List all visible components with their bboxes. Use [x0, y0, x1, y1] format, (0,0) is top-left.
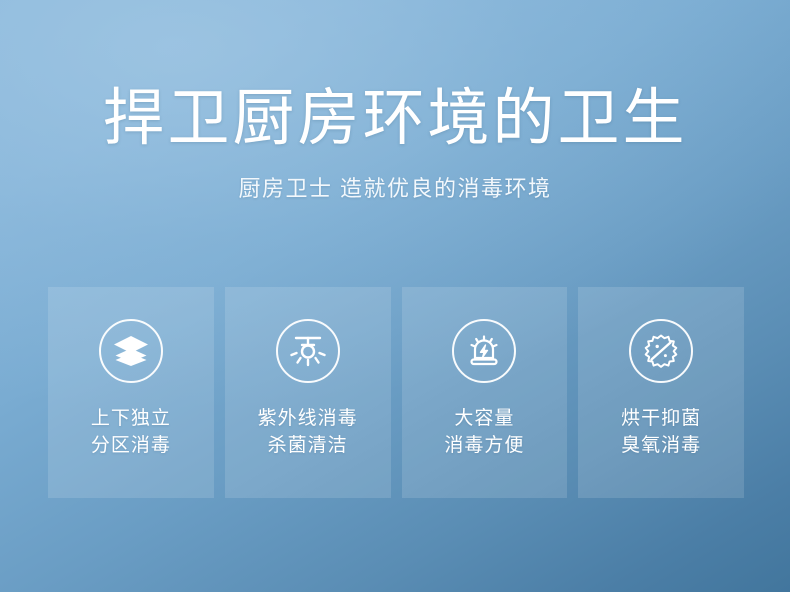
feature-card-1-label: 上下独立 分区消毒 [91, 405, 171, 459]
feature-card-4-line1: 烘干抑菌 [621, 405, 701, 432]
page-title: 捍卫厨房环境的卫生 [0, 0, 790, 150]
feature-card-1-line2: 分区消毒 [91, 432, 171, 459]
feature-card-4-label: 烘干抑菌 臭氧消毒 [621, 405, 701, 459]
uv-lamp-icon [276, 319, 340, 383]
layered-stack-icon [99, 319, 163, 383]
product-feature-banner: 捍卫厨房环境的卫生 厨房卫士 造就优良的消毒环境 上下独立 分区消毒 [0, 0, 790, 592]
feature-card-list: 上下独立 分区消毒 紫外线消毒 [48, 287, 744, 498]
feature-card-4-line2: 臭氧消毒 [621, 432, 701, 459]
feature-card-1-line1: 上下独立 [91, 405, 171, 432]
feature-card-2-line2: 杀菌清洁 [258, 432, 358, 459]
germ-slash-icon [629, 319, 693, 383]
feature-card-2-label: 紫外线消毒 杀菌清洁 [258, 405, 358, 459]
feature-card-3-line1: 大容量 [444, 405, 524, 432]
feature-card-4[interactable]: 烘干抑菌 臭氧消毒 [578, 287, 744, 498]
feature-card-3[interactable]: 大容量 消毒方便 [402, 287, 568, 498]
feature-card-2-line1: 紫外线消毒 [258, 405, 358, 432]
page-subtitle: 厨房卫士 造就优良的消毒环境 [0, 150, 790, 202]
feature-card-3-label: 大容量 消毒方便 [444, 405, 524, 459]
feature-card-1[interactable]: 上下独立 分区消毒 [48, 287, 214, 498]
siren-bolt-icon [452, 319, 516, 383]
banner-heading-group: 捍卫厨房环境的卫生 厨房卫士 造就优良的消毒环境 [0, 0, 790, 202]
feature-card-2[interactable]: 紫外线消毒 杀菌清洁 [225, 287, 391, 498]
feature-card-3-line2: 消毒方便 [444, 432, 524, 459]
